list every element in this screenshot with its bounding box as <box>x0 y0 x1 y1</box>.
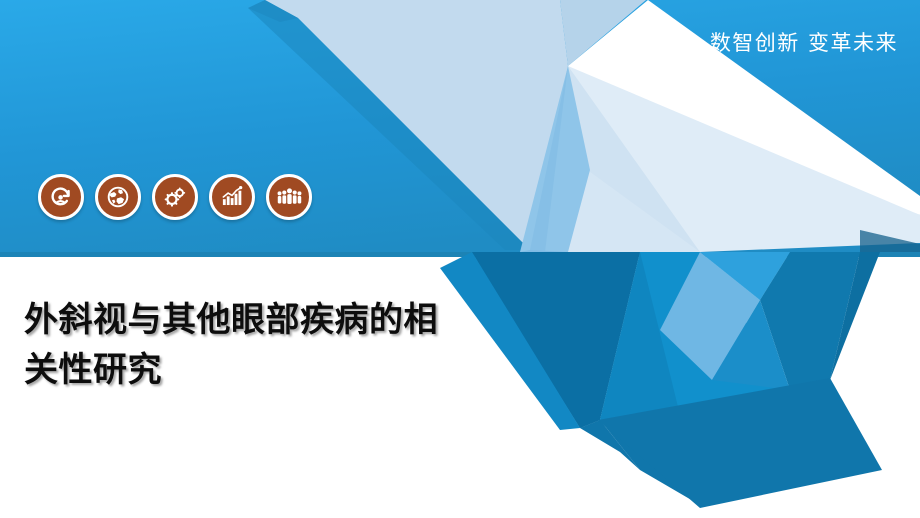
gears-icon[interactable] <box>152 174 198 220</box>
globe-icon[interactable] <box>95 174 141 220</box>
background-graphic <box>0 0 920 518</box>
page-title-line-2: 关性研究 <box>24 346 544 396</box>
bar-chart-icon[interactable] <box>209 174 255 220</box>
page-title-line-1: 外斜视与其他眼部疾病的相 <box>24 296 544 346</box>
bar-chart-glyph <box>219 184 245 210</box>
slide-canvas: 数智创新 变革未来 <box>0 0 920 518</box>
globe-glyph <box>105 184 131 210</box>
people-group-icon[interactable] <box>266 174 312 220</box>
refresh-cycle-icon[interactable] <box>38 174 84 220</box>
refresh-cycle-glyph <box>48 184 74 210</box>
people-group-glyph <box>276 184 303 211</box>
gears-glyph <box>162 184 188 210</box>
icon-strip <box>38 174 312 220</box>
tagline-text: 数智创新 变革未来 <box>710 27 898 57</box>
page-title: 外斜视与其他眼部疾病的相 关性研究 <box>24 296 544 396</box>
